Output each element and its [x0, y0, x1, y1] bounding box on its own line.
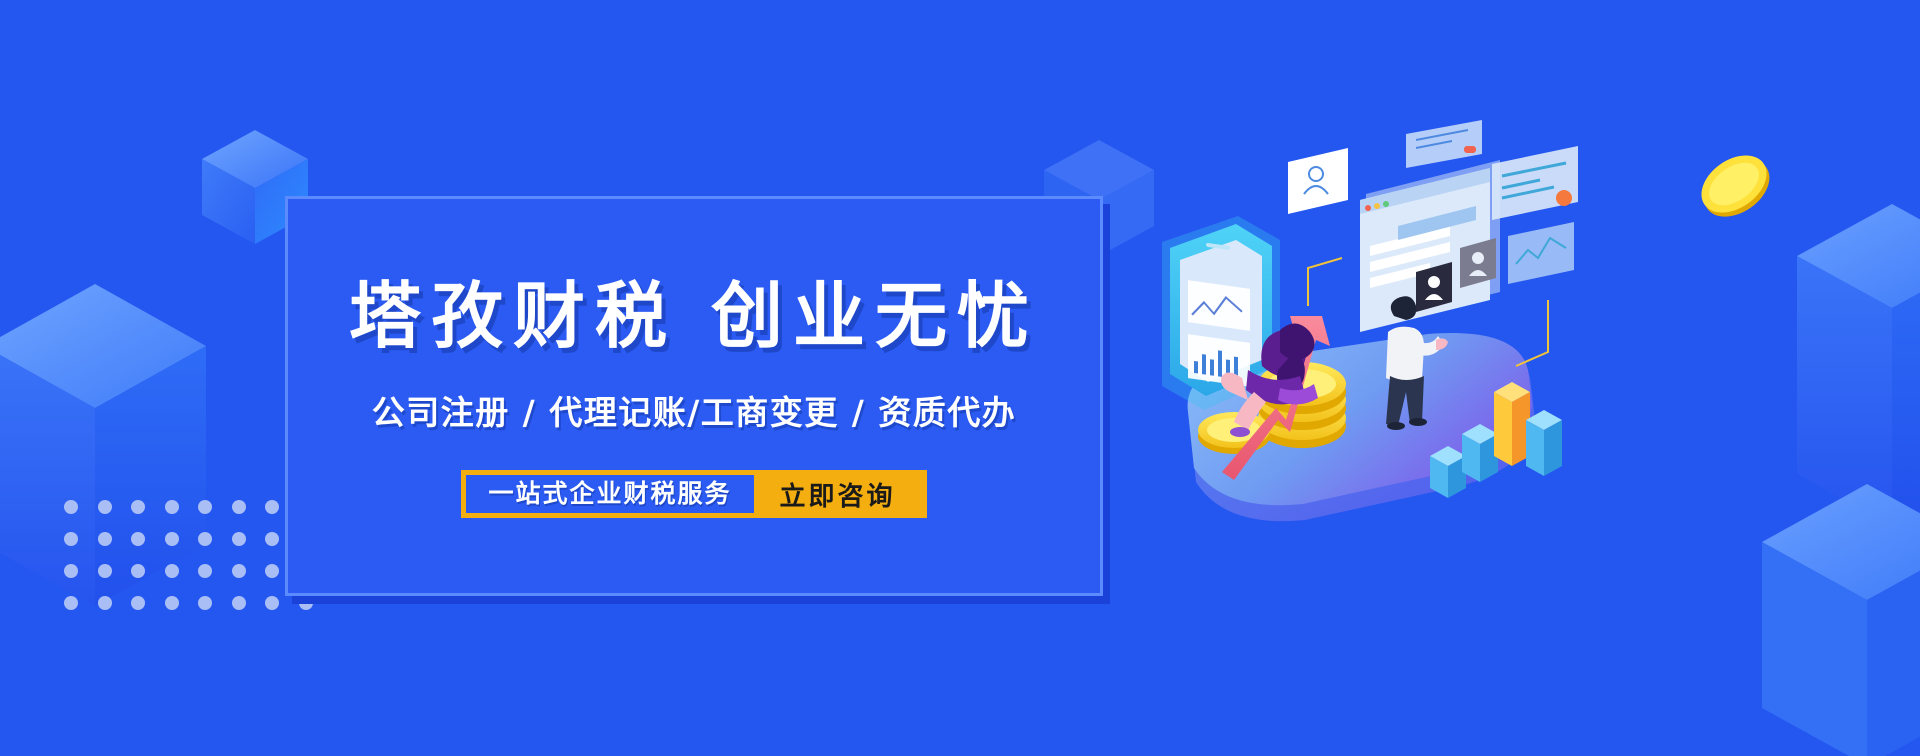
promo-banner: 塔孜财税创业无忧 公司注册 / 代理记账/工商变更 / 资质代办 一站式企业财税…: [0, 0, 1920, 756]
dot-grid-decoration: [64, 500, 313, 628]
gold-coin-icon: [988, 455, 1068, 535]
frame-shadow: [292, 204, 1110, 604]
dot-grid-row: [64, 596, 313, 610]
service-tagline-pill[interactable]: 一站式企业财税服务: [466, 475, 753, 513]
business-finance-illustration: [1130, 120, 1590, 580]
cta-bar[interactable]: 一站式企业财税服务 立即咨询: [461, 470, 926, 518]
headline-part2: 创业无忧: [711, 274, 1039, 358]
isometric-cube-right-icon: [1760, 480, 1920, 756]
isometric-cube-icon: [200, 128, 310, 246]
headline-frame: 塔孜财税创业无忧 公司注册 / 代理记账/工商变更 / 资质代办 一站式企业财税…: [285, 196, 1103, 596]
page-title: 塔孜财税创业无忧: [349, 280, 1039, 352]
consult-now-button[interactable]: 立即咨询: [754, 476, 922, 513]
service-list: 公司注册 / 代理记账/工商变更 / 资质代办: [372, 386, 1017, 434]
dot-grid-row: [64, 500, 313, 514]
headline-part1: 塔孜财税: [349, 274, 677, 358]
dot-grid-row: [64, 564, 313, 578]
isometric-prism-icon: [0, 280, 210, 610]
isometric-prism-right-icon: [1795, 200, 1920, 530]
gold-coin-icon: [1690, 140, 1778, 228]
dot-grid-row: [64, 532, 313, 546]
